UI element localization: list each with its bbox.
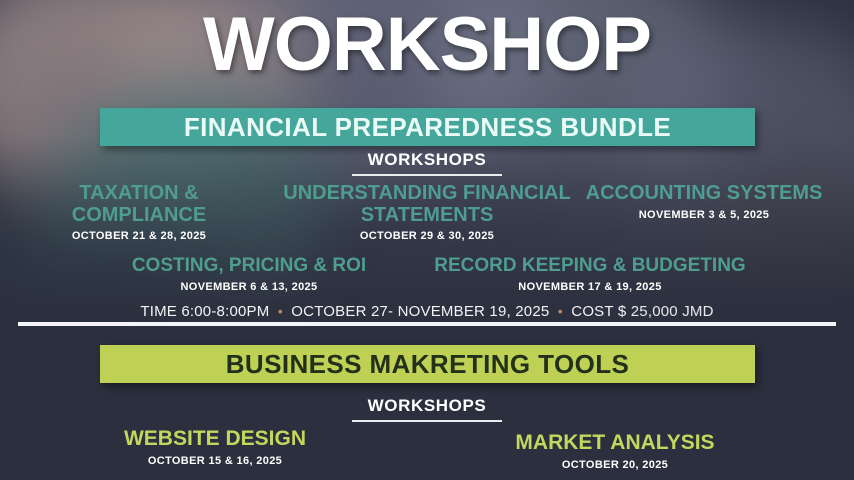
course-card-market-analysis: MARKET ANALYSIS OCTOBER 20, 2025 (450, 432, 780, 471)
course-card-taxation-compliance: TAXATION & COMPLIANCE OCTOBER 21 & 28, 2… (14, 183, 264, 242)
course-title: UNDERSTANDING FINANCIAL STATEMENTS (282, 183, 572, 226)
marketing-workshops-heading: WORKSHOPS (0, 396, 854, 422)
course-title: TAXATION & COMPLIANCE (14, 183, 264, 226)
financial-workshops-heading-label: WORKSHOPS (368, 150, 487, 170)
marketing-workshops-heading-label: WORKSHOPS (368, 396, 487, 416)
course-date: NOVEMBER 3 & 5, 2025 (566, 209, 842, 221)
course-date: OCTOBER 20, 2025 (450, 459, 780, 471)
section-divider (18, 322, 836, 326)
poster-content: WORKSHOP FINANCIAL PREPAREDNESS BUNDLE W… (0, 0, 854, 480)
financial-bundle-banner: FINANCIAL PREPAREDNESS BUNDLE (100, 108, 755, 146)
workshop-poster: WORKSHOP FINANCIAL PREPAREDNESS BUNDLE W… (0, 0, 854, 480)
marketing-bundle-banner: BUSINESS MAKRETING TOOLS (100, 345, 755, 383)
course-card-accounting-systems: ACCOUNTING SYSTEMS NOVEMBER 3 & 5, 2025 (566, 183, 842, 221)
marketing-bundle-banner-label: BUSINESS MAKRETING TOOLS (226, 349, 630, 380)
course-card-costing-pricing-roi: COSTING, PRICING & ROI NOVEMBER 6 & 13, … (62, 256, 436, 293)
financial-bundle-info-line: TIME 6:00-8:00PM • OCTOBER 27- NOVEMBER … (0, 303, 854, 320)
financial-workshops-heading: WORKSHOPS (0, 150, 854, 176)
course-title: COSTING, PRICING & ROI (62, 256, 436, 277)
info-time: TIME 6:00-8:00PM (140, 303, 269, 320)
course-date: OCTOBER 15 & 16, 2025 (60, 455, 370, 467)
course-card-understanding-financial-statements: UNDERSTANDING FINANCIAL STATEMENTS OCTOB… (282, 183, 572, 242)
course-date: OCTOBER 21 & 28, 2025 (14, 230, 264, 242)
info-date-range: OCTOBER 27- NOVEMBER 19, 2025 (291, 303, 549, 320)
course-title: ACCOUNTING SYSTEMS (566, 183, 842, 205)
course-date: NOVEMBER 6 & 13, 2025 (62, 281, 436, 293)
info-separator-icon: • (554, 303, 567, 319)
heading-rule (352, 174, 502, 176)
page-title: WORKSHOP (0, 4, 854, 86)
info-cost-amount: 25,000 JMD (631, 303, 714, 320)
info-separator-icon: • (274, 303, 287, 319)
course-title: MARKET ANALYSIS (450, 432, 780, 455)
course-date: OCTOBER 29 & 30, 2025 (282, 230, 572, 242)
course-title: RECORD KEEPING & BUDGETING (396, 256, 784, 277)
info-cost-label: COST $ (571, 303, 626, 320)
course-card-website-design: WEBSITE DESIGN OCTOBER 15 & 16, 2025 (60, 428, 370, 467)
financial-bundle-banner-label: FINANCIAL PREPAREDNESS BUNDLE (184, 112, 671, 143)
course-title: WEBSITE DESIGN (60, 428, 370, 451)
course-card-record-keeping-budgeting: RECORD KEEPING & BUDGETING NOVEMBER 17 &… (396, 256, 784, 293)
course-date: NOVEMBER 17 & 19, 2025 (396, 281, 784, 293)
heading-rule (352, 420, 502, 422)
